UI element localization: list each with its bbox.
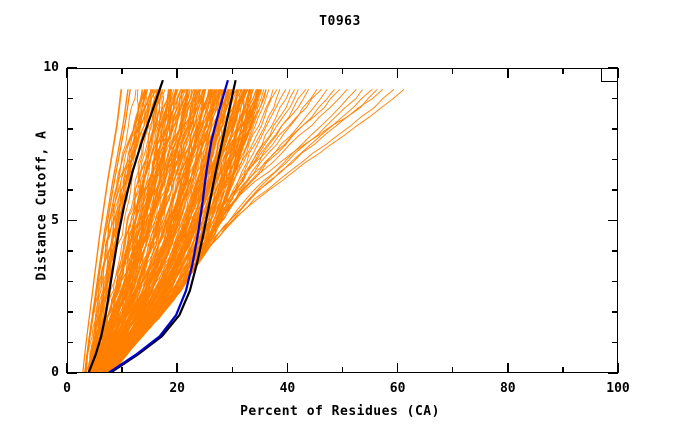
- y-tick-minor-right: [612, 281, 618, 283]
- y-tick-major-right: [608, 220, 618, 222]
- x-tick-label: 0: [37, 381, 97, 396]
- x-tick-minor-top: [562, 68, 564, 74]
- y-tick-minor-right: [612, 189, 618, 191]
- x-tick-major: [507, 363, 509, 373]
- y-tick-minor-right: [612, 128, 618, 130]
- y-tick-minor: [67, 250, 73, 252]
- y-tick-minor: [67, 159, 73, 161]
- x-tick-major-top: [66, 68, 68, 78]
- x-tick-minor: [121, 367, 123, 373]
- y-tick-minor: [67, 342, 73, 344]
- x-tick-minor-top: [232, 68, 234, 74]
- x-tick-major-top: [397, 68, 399, 78]
- ensemble-curves-layer: [83, 89, 404, 373]
- chart-page: T0963 0204060801000510 Percent of Residu…: [0, 0, 680, 440]
- x-tick-major: [287, 363, 289, 373]
- page-title: T0963: [0, 14, 680, 29]
- x-tick-minor: [342, 367, 344, 373]
- y-tick-label: 10: [19, 60, 59, 75]
- x-tick-label: 20: [147, 381, 207, 396]
- x-tick-minor: [232, 367, 234, 373]
- y-tick-minor: [67, 189, 73, 191]
- x-tick-minor-top: [342, 68, 344, 74]
- x-tick-label: 100: [588, 381, 648, 396]
- x-tick-minor-top: [121, 68, 123, 74]
- y-tick-minor-right: [612, 342, 618, 344]
- y-tick-major-right: [608, 372, 618, 374]
- x-tick-major-top: [507, 68, 509, 78]
- x-axis-title: Percent of Residues (CA): [0, 404, 680, 419]
- y-tick-minor-right: [612, 311, 618, 313]
- y-tick-major: [67, 67, 77, 69]
- x-tick-minor: [562, 367, 564, 373]
- y-tick-major-right: [608, 67, 618, 69]
- plot-canvas: [67, 68, 618, 373]
- y-tick-major: [67, 220, 77, 222]
- x-tick-major: [397, 363, 399, 373]
- y-tick-minor: [67, 281, 73, 283]
- chart-svg: [67, 68, 618, 373]
- y-tick-minor-right: [612, 98, 618, 100]
- y-tick-label: 0: [19, 365, 59, 380]
- y-tick-major: [67, 372, 77, 374]
- x-tick-label: 40: [257, 381, 317, 396]
- y-tick-minor: [67, 98, 73, 100]
- x-tick-major-top: [287, 68, 289, 78]
- y-tick-minor: [67, 128, 73, 130]
- x-tick-label: 80: [478, 381, 538, 396]
- x-tick-major-top: [617, 68, 619, 78]
- x-tick-label: 60: [368, 381, 428, 396]
- x-tick-minor-top: [452, 68, 454, 74]
- y-tick-minor: [67, 311, 73, 313]
- x-tick-minor: [452, 367, 454, 373]
- y-axis-title: Distance Cutoff, A: [35, 76, 50, 336]
- y-tick-minor-right: [612, 250, 618, 252]
- y-tick-minor-right: [612, 159, 618, 161]
- x-tick-major-top: [176, 68, 178, 78]
- frame-corner-notch: [601, 68, 618, 82]
- x-tick-major: [176, 363, 178, 373]
